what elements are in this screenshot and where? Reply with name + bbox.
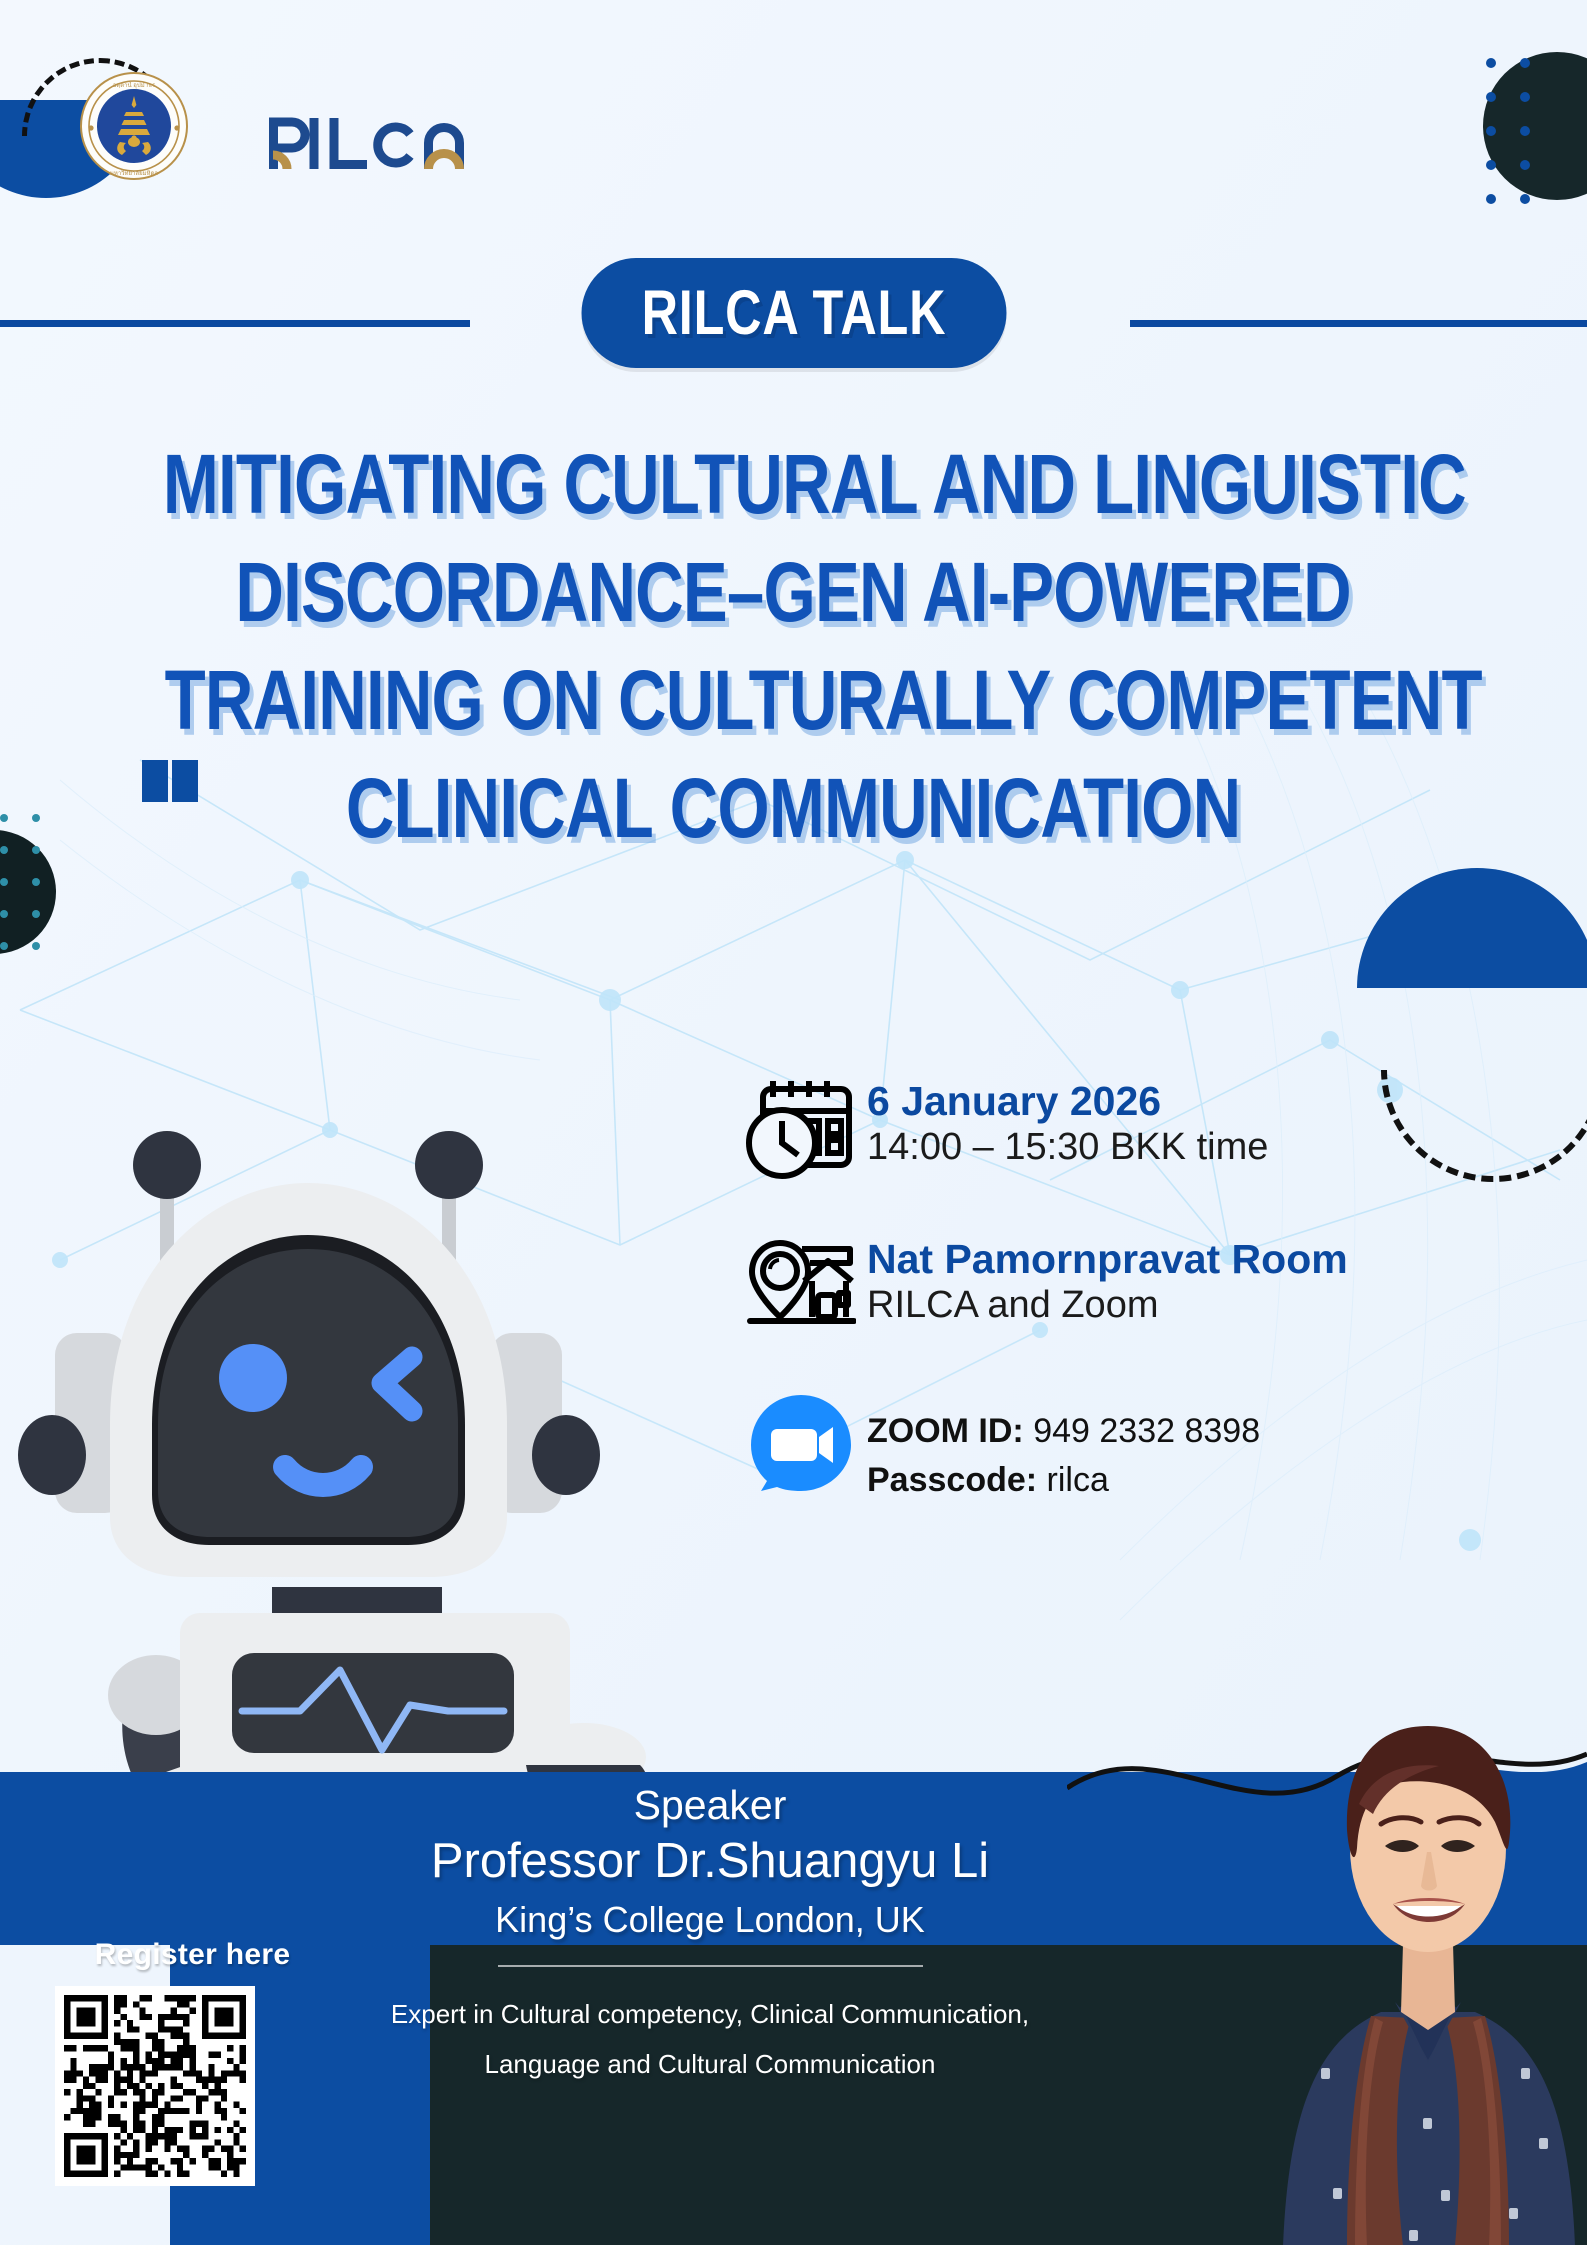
- event-venue: RILCA and Zoom: [867, 1283, 1348, 1329]
- speaker-expertise-line-1: Expert in Cultural competency, Clinical …: [330, 1989, 1090, 2040]
- poster-header: อตฺตานํ อุปมํ กเร มหาวิทยาลัยมหิดล: [0, 0, 1587, 230]
- zoom-passcode-line: Passcode: rilca: [867, 1456, 1260, 1505]
- speaker-block: Speaker Professor Dr.Shuangyu Li King’s …: [330, 1780, 1090, 2090]
- zoom-video-icon: [735, 1391, 867, 1495]
- rule-left: [0, 320, 470, 327]
- speaker-divider: [498, 1965, 923, 1967]
- calendar-clock-icon: [735, 1075, 867, 1179]
- detail-row-date: 6 January 2026 14:00 – 15:30 BKK time: [735, 1075, 1535, 1179]
- event-details: 6 January 2026 14:00 – 15:30 BKK time: [735, 1075, 1535, 1560]
- badge-row: RILCA TALK: [0, 258, 1587, 382]
- map-pin-building-icon: [735, 1233, 867, 1337]
- zoom-passcode-value: rilca: [1037, 1461, 1109, 1499]
- robot-mascot-illustration: [10, 1125, 730, 1885]
- speaker-photo: [1263, 1598, 1587, 2245]
- zoom-id-label: ZOOM ID:: [867, 1412, 1024, 1450]
- speaker-organization: King’s College London, UK: [330, 1893, 1090, 1947]
- speaker-name: Professor Dr.Shuangyu Li: [330, 1831, 1090, 1892]
- event-room: Nat Pamornpravat Room: [867, 1237, 1348, 1283]
- detail-row-zoom: ZOOM ID: 949 2332 8398 Passcode: rilca: [735, 1391, 1535, 1506]
- page-title: MITIGATING CULTURAL AND LINGUISTIC DISCO…: [0, 430, 1587, 862]
- rilca-talk-badge-label: RILCA TALK: [641, 277, 946, 349]
- svg-text:อตฺตานํ อุปมํ กเร: อตฺตานํ อุปมํ กเร: [113, 82, 156, 89]
- registration-block: Register here: [55, 1938, 330, 2186]
- event-date: 6 January 2026: [867, 1079, 1268, 1125]
- speaker-role: Speaker: [330, 1780, 1090, 1831]
- detail-row-location: Nat Pamornpravat Room RILCA and Zoom: [735, 1233, 1535, 1337]
- registration-qr-code[interactable]: [55, 1986, 255, 2186]
- rule-right: [1130, 320, 1587, 327]
- title-line-2: DISCORDANCE–GEN AI-POWERED: [0, 538, 1587, 646]
- title-line-4: CLINICAL COMMUNICATION: [0, 754, 1587, 862]
- zoom-passcode-label: Passcode:: [867, 1461, 1037, 1499]
- rilca-logo: [268, 113, 468, 171]
- detail-text-zoom: ZOOM ID: 949 2332 8398 Passcode: rilca: [867, 1391, 1260, 1506]
- mahidol-seal-icon: อตฺตานํ อุปมํ กเร มหาวิทยาลัยมหิดล: [80, 72, 188, 180]
- event-time: 14:00 – 15:30 BKK time: [867, 1125, 1268, 1171]
- zoom-id-line: ZOOM ID: 949 2332 8398: [867, 1407, 1260, 1456]
- title-line-1: MITIGATING CULTURAL AND LINGUISTIC: [0, 430, 1587, 538]
- detail-text-date: 6 January 2026 14:00 – 15:30 BKK time: [867, 1075, 1268, 1171]
- register-here-label: Register here: [55, 1938, 330, 1972]
- poster: อตฺตานํ อุปมํ กเร มหาวิทยาลัยมหิดล RIL: [0, 0, 1587, 2245]
- speaker-expertise-line-2: Language and Cultural Communication: [330, 2039, 1090, 2090]
- title-line-3: TRAINING ON CULTURALLY COMPETENT: [0, 646, 1587, 754]
- rilca-talk-badge: RILCA TALK: [581, 258, 1006, 368]
- svg-text:มหาวิทยาลัยมหิดล: มหาวิทยาลัยมหิดล: [110, 170, 158, 177]
- decor-half-circle-right: [1357, 868, 1587, 988]
- detail-text-location: Nat Pamornpravat Room RILCA and Zoom: [867, 1233, 1348, 1329]
- zoom-id-value: 949 2332 8398: [1024, 1412, 1260, 1450]
